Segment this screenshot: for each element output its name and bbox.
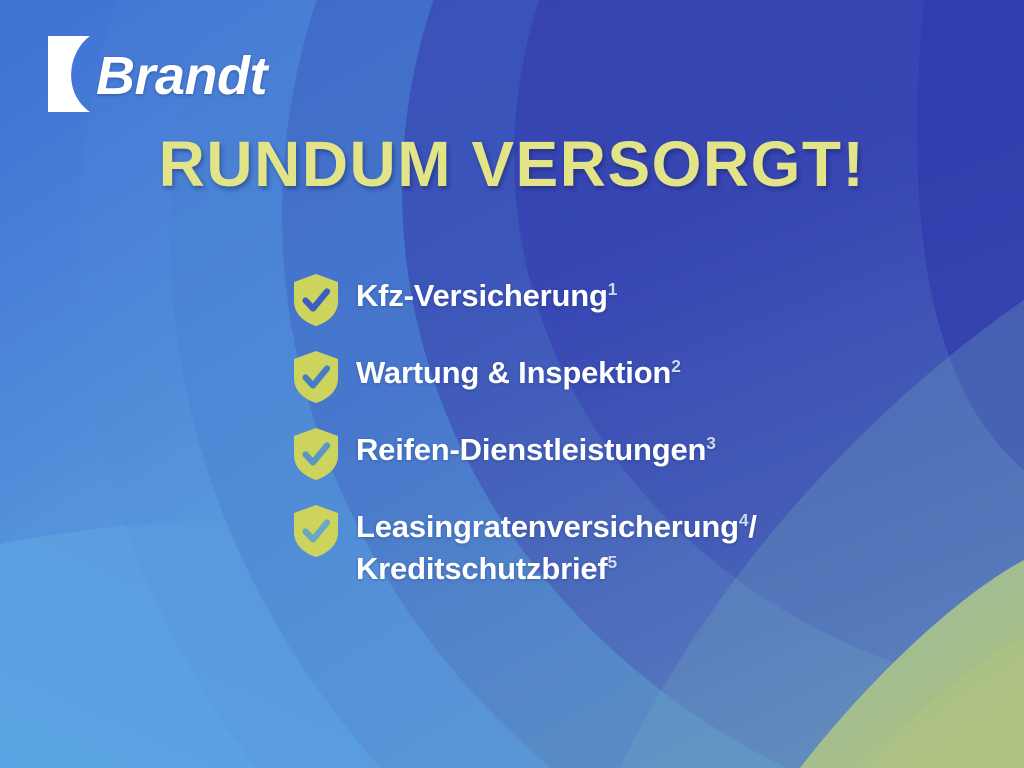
benefit-footnote: 1: [608, 279, 617, 299]
benefit-title: Leasingratenversicherung: [356, 509, 739, 544]
brand-name: Brandt: [96, 49, 267, 103]
benefit-label: Leasingratenversicherung4/ Kreditschutzb…: [356, 503, 757, 588]
benefit-footnote: 2: [671, 356, 680, 376]
page-title: RUNDUM VERSORGT!: [0, 132, 1024, 196]
brand-logo[interactable]: Brandt: [48, 36, 267, 112]
benefit-footnote-alt: 5: [608, 552, 617, 572]
list-item: Wartung & Inspektion2: [292, 349, 757, 404]
list-item: Reifen-Dienstleistungen3: [292, 426, 757, 481]
benefit-label: Kfz-Versicherung1: [356, 272, 617, 316]
benefit-title: Reifen-Dienstleistungen: [356, 432, 706, 467]
benefit-label: Wartung & Inspektion2: [356, 349, 681, 393]
list-item: Leasingratenversicherung4/ Kreditschutzb…: [292, 503, 757, 588]
list-item: Kfz-Versicherung1: [292, 272, 757, 327]
benefit-title: Wartung & Inspektion: [356, 355, 671, 390]
benefit-footnote: 4: [739, 510, 748, 530]
benefit-label: Reifen-Dienstleistungen3: [356, 426, 716, 470]
benefit-footnote: 3: [706, 433, 715, 453]
bracket-crescent-icon: [48, 36, 90, 112]
shield-check-icon: [292, 504, 340, 558]
shield-check-icon: [292, 427, 340, 481]
shield-check-icon: [292, 350, 340, 404]
shield-check-icon: [292, 273, 340, 327]
benefit-title-line-2: Kreditschutzbrief5: [356, 549, 757, 589]
benefit-list: Kfz-Versicherung1 Wartung & Inspektion2 …: [292, 272, 757, 588]
benefit-separator: /: [748, 509, 756, 544]
benefit-title: Kfz-Versicherung: [356, 278, 608, 313]
promo-banner: Brandt RUNDUM VERSORGT! Kfz-Versicherung…: [0, 0, 1024, 768]
benefit-title-alt: Kreditschutzbrief: [356, 551, 608, 586]
